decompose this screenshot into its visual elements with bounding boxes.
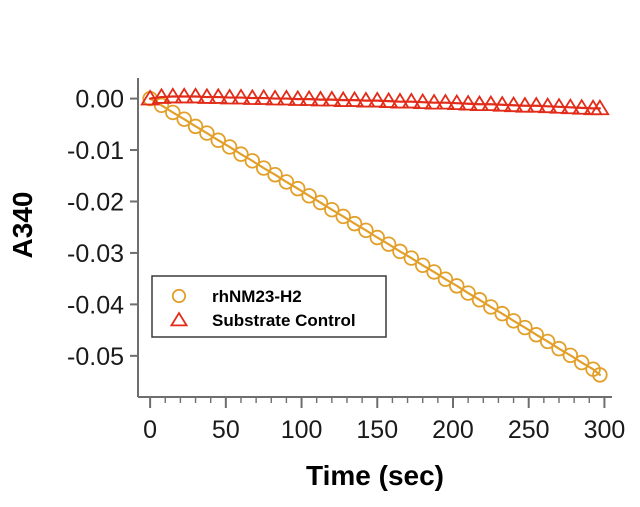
x-tick-label: 0	[143, 416, 157, 444]
x-tick-label: 300	[584, 416, 626, 444]
legend-item-label: rhNM23-H2	[212, 287, 302, 306]
y-tick-label: -0.02	[67, 188, 124, 216]
x-tick-label: 150	[356, 416, 398, 444]
y-tick-label: -0.04	[67, 291, 124, 319]
chart-figure: 0.00-0.01-0.02-0.03-0.04-0.05 0501001502…	[0, 0, 640, 507]
x-tick-label: 50	[212, 416, 240, 444]
chart-canvas: 0.00-0.01-0.02-0.03-0.04-0.05 0501001502…	[0, 0, 640, 507]
y-axis-label: A340	[7, 192, 38, 259]
x-tick-label: 100	[281, 416, 323, 444]
x-axis-label: Time (sec)	[306, 460, 444, 491]
y-tick-label: -0.01	[67, 137, 124, 165]
legend-item-label: Substrate Control	[212, 311, 356, 330]
y-tick-label: -0.03	[67, 240, 124, 268]
chart-legend[interactable]: rhNM23-H2Substrate Control	[152, 276, 386, 337]
x-tick-label: 200	[432, 416, 474, 444]
x-tick-label: 250	[508, 416, 550, 444]
y-tick-label: 0.00	[75, 86, 124, 114]
y-tick-label: -0.05	[67, 343, 124, 371]
